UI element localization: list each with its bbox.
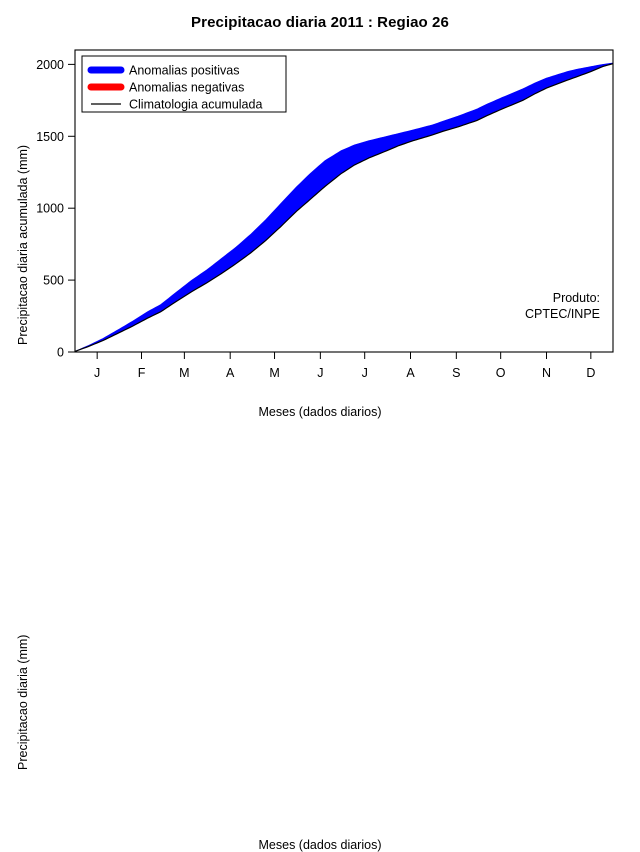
svg-text:J: J	[317, 366, 323, 380]
daily-plot-area[interactable]: 01020304050JFMAMJJASONDChuva diaria obse…	[0, 425, 640, 850]
svg-text:S: S	[452, 366, 460, 380]
svg-text:1500: 1500	[36, 130, 64, 144]
svg-text:Climatologia acumulada: Climatologia acumulada	[129, 98, 262, 112]
svg-text:N: N	[542, 366, 551, 380]
svg-text:Anomalias positivas: Anomalias positivas	[129, 64, 239, 78]
svg-text:A: A	[226, 366, 235, 380]
svg-text:J: J	[362, 366, 368, 380]
svg-text:D: D	[586, 366, 595, 380]
svg-text:0: 0	[57, 346, 64, 360]
svg-text:O: O	[496, 366, 506, 380]
accumulated-precipitation-panel: Precipitacao diaria 2011 : Regiao 26 Pre…	[0, 0, 640, 425]
svg-text:CPTEC/INPE: CPTEC/INPE	[525, 307, 600, 321]
svg-text:500: 500	[43, 274, 64, 288]
svg-text:J: J	[94, 366, 100, 380]
svg-text:F: F	[138, 366, 146, 380]
daily-precipitation-panel: Precipitacao diaria (mm) Meses (dados di…	[0, 425, 640, 850]
figure-root: Precipitacao diaria 2011 : Regiao 26 Pre…	[0, 0, 640, 850]
svg-text:A: A	[406, 366, 415, 380]
accumulated-plot-area[interactable]: 0500100015002000JFMAMJJASONDAnomalias po…	[0, 0, 640, 425]
svg-text:M: M	[269, 366, 279, 380]
svg-text:Produto:: Produto:	[553, 291, 600, 305]
svg-text:1000: 1000	[36, 202, 64, 216]
svg-text:M: M	[179, 366, 189, 380]
svg-text:Anomalias negativas: Anomalias negativas	[129, 81, 244, 95]
svg-text:2000: 2000	[36, 58, 64, 72]
